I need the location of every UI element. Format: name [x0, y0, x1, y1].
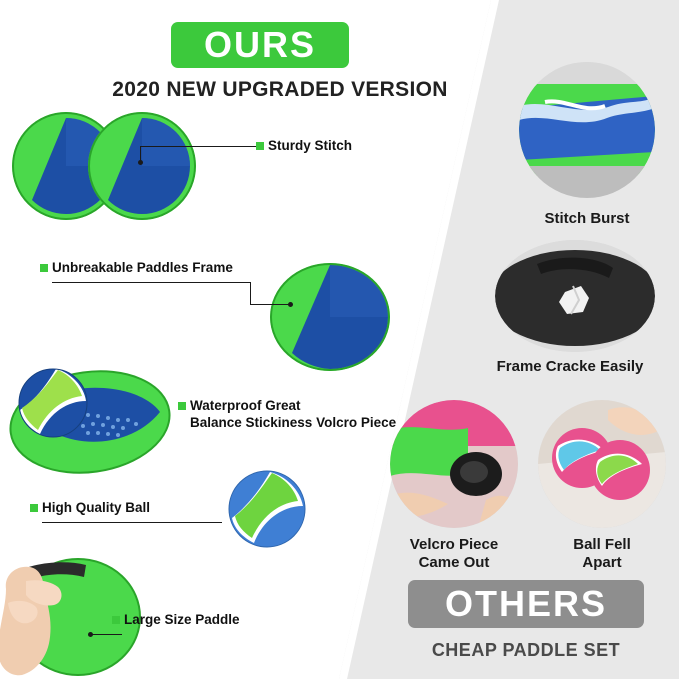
- photo-frame-cracke: [495, 240, 655, 352]
- caption-frame-cracke: Frame Cracke Easily: [460, 358, 679, 376]
- caption-stitch-burst: Stitch Burst: [519, 210, 655, 228]
- callout-large-size-paddle: Large Size Paddle: [112, 612, 240, 629]
- callout-label-unbreakable-paddles-frame: Unbreakable Paddles Frame: [52, 260, 233, 277]
- leader-line-large-paddle-h: [92, 634, 122, 635]
- callout-label-sturdy-stitch: Sturdy Stitch: [268, 138, 352, 155]
- ours-subtitle: 2020 NEW UPGRADED VERSION: [100, 78, 460, 102]
- callout-bullet-icon: [40, 264, 48, 272]
- callout-unbreakable-paddles-frame: Unbreakable Paddles Frame: [40, 260, 233, 277]
- leader-dot-large-paddle: [88, 632, 93, 637]
- others-banner-label: OTHERS: [445, 583, 607, 625]
- leader-dot-sturdy-stitch: [138, 160, 143, 165]
- paddle-front-right: [88, 112, 196, 220]
- photo-velcro-came-out: [390, 400, 518, 528]
- callout-label-waterproof-velcro: Waterproof Great Balance Stickiness Volc…: [190, 398, 396, 432]
- callout-bullet-icon: [178, 402, 186, 410]
- leader-line-sturdy-stitch-h: [140, 146, 258, 147]
- leader-dot-unbreakable: [288, 302, 293, 307]
- product-comparison-image: OURS 2020 NEW UPGRADED VERSION Sturdy St…: [0, 0, 679, 679]
- callout-label-high-quality-ball: High Quality Ball: [42, 500, 150, 517]
- ball-standalone: [228, 470, 306, 548]
- callout-bullet-icon: [256, 142, 264, 150]
- ball-on-paddle: [18, 368, 88, 438]
- callout-waterproof-velcro: Waterproof Great Balance Stickiness Volc…: [178, 398, 396, 432]
- leader-line-unbreakable-v: [250, 282, 251, 304]
- photo-stitch-burst: [519, 62, 655, 198]
- others-banner: OTHERS: [408, 580, 644, 628]
- leader-line-high-quality-ball: [42, 522, 222, 523]
- leader-line-unbreakable-h: [52, 282, 250, 283]
- callout-label-large-size-paddle: Large Size Paddle: [124, 612, 240, 629]
- leader-line-unbreakable-h2: [250, 304, 290, 305]
- callout-bullet-icon: [30, 504, 38, 512]
- photo-ball-fell-apart: [538, 400, 666, 528]
- ours-banner-label: OURS: [204, 24, 316, 66]
- callout-bullet-icon: [112, 616, 120, 624]
- callout-high-quality-ball: High Quality Ball: [30, 500, 150, 517]
- ours-banner: OURS: [171, 22, 349, 68]
- paddle-middle: [270, 263, 390, 371]
- caption-ball-fell-apart: Ball Fell Apart: [534, 536, 670, 572]
- others-subtitle: CHEAP PADDLE SET: [400, 640, 652, 661]
- callout-sturdy-stitch: Sturdy Stitch: [256, 138, 352, 155]
- caption-velcro-came-out: Velcro Piece Came Out: [382, 536, 526, 572]
